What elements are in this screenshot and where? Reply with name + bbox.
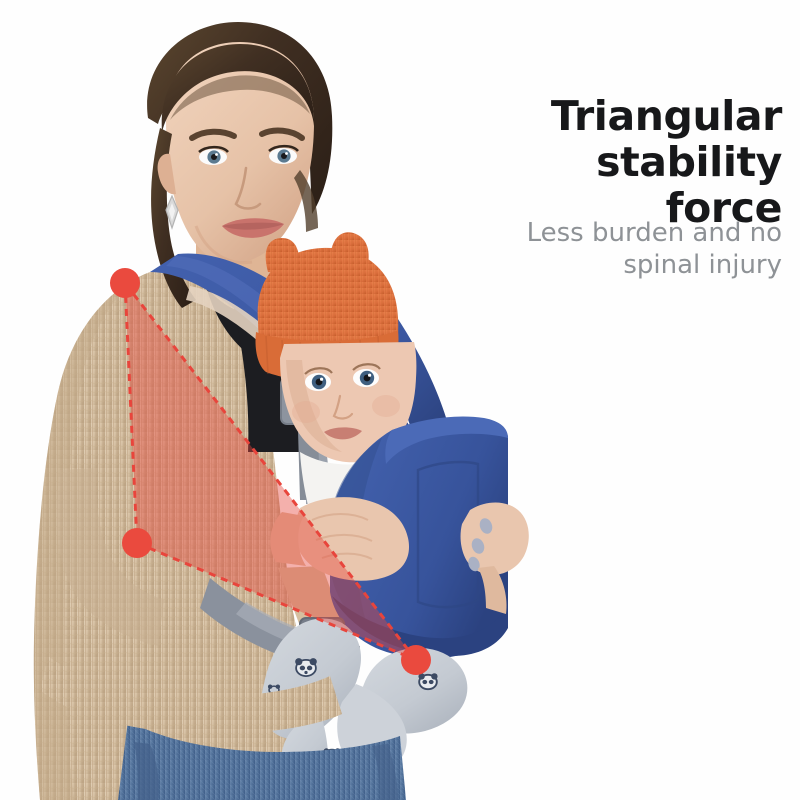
vertex-dot-shoulder <box>110 268 140 298</box>
stability-triangle <box>0 0 800 800</box>
product-marketing-image: Triangular stability force Less burden a… <box>0 0 800 800</box>
triangle-annotation-layer <box>0 0 800 800</box>
vertex-dot-waist <box>122 528 152 558</box>
vertex-dot-hip-seat <box>401 645 431 675</box>
